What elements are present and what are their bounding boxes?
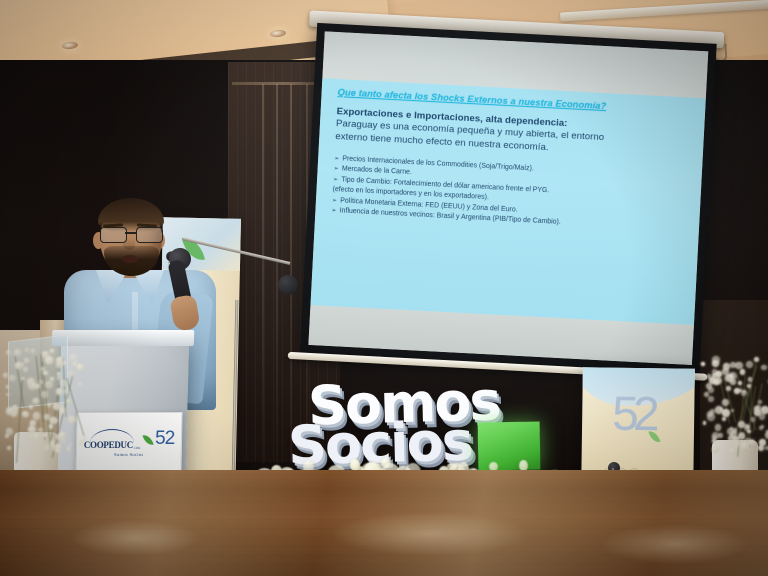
mountain-arc-icon bbox=[90, 429, 134, 443]
flower-blossom bbox=[31, 349, 35, 353]
flower-blossom bbox=[45, 381, 53, 389]
flower-blossom bbox=[712, 439, 716, 443]
flower-blossom bbox=[738, 381, 742, 385]
flower-blossom bbox=[722, 409, 730, 417]
flower-blossom bbox=[703, 421, 706, 424]
bullet-arrow-icon: ➢ bbox=[332, 196, 338, 203]
flower-blossom bbox=[59, 380, 66, 387]
podium-ltda-text: Ltda. bbox=[134, 446, 141, 450]
flower-blossom bbox=[708, 387, 714, 393]
bullet-arrow-icon: ➢ bbox=[333, 176, 339, 183]
flower-blossom bbox=[758, 400, 762, 404]
flower-blossom bbox=[6, 428, 12, 434]
leaf-icon bbox=[648, 429, 660, 444]
flower-blossom bbox=[748, 377, 752, 381]
flower-blossom bbox=[6, 385, 9, 388]
flower-blossom bbox=[56, 362, 62, 368]
floor-light-reflection bbox=[600, 524, 750, 564]
flower-blossom bbox=[747, 430, 750, 433]
boom-pivot-joint bbox=[278, 275, 298, 295]
flower-blossom bbox=[730, 379, 736, 385]
flower-blossom bbox=[715, 424, 722, 431]
flower-blossom bbox=[50, 349, 54, 353]
bullet-arrow-icon: ➢ bbox=[334, 155, 340, 162]
flower-blossom bbox=[708, 396, 714, 402]
flower-bouquet-right bbox=[700, 356, 768, 456]
curtain-fold bbox=[262, 84, 264, 464]
flower-blossom bbox=[741, 442, 749, 450]
flower-blossom bbox=[26, 448, 31, 453]
flower-blossom bbox=[723, 363, 729, 369]
flower-blossom bbox=[42, 351, 49, 358]
slide-bullet-text: Mercados de la Carne. bbox=[342, 165, 412, 176]
flower-blossom bbox=[761, 406, 768, 414]
flower-blossom bbox=[43, 433, 47, 437]
slide-bullet-list: ➢Precios Internacionales de los Commodit… bbox=[331, 154, 692, 236]
lens-right bbox=[136, 227, 163, 243]
flower-blossom bbox=[41, 391, 48, 398]
flower-blossom bbox=[39, 380, 43, 384]
flower-blossom bbox=[24, 412, 29, 417]
flower-blossom bbox=[56, 449, 60, 453]
flower-blossom bbox=[707, 413, 714, 420]
flower-blossom bbox=[749, 439, 755, 445]
flower-blossom bbox=[759, 413, 766, 420]
podium-logo-plate: COOPEDUC Ltda. 52 Somos Socios bbox=[75, 412, 182, 474]
flower-blossom bbox=[47, 403, 51, 407]
flower-blossom bbox=[758, 445, 764, 451]
glasses-bridge bbox=[125, 232, 136, 234]
flower-blossom bbox=[21, 377, 25, 381]
flower-blossom bbox=[729, 372, 737, 380]
curtain-fold bbox=[276, 84, 278, 464]
flower-blossom bbox=[77, 440, 83, 446]
podium-top-surface bbox=[52, 330, 195, 346]
flower-blossom bbox=[722, 417, 726, 421]
flower-blossom bbox=[43, 371, 48, 376]
flower-blossom bbox=[23, 367, 28, 372]
flower-blossom bbox=[28, 426, 35, 433]
flower-blossom bbox=[751, 417, 756, 422]
flower-blossom bbox=[50, 417, 56, 423]
projection-screen: Que tanto afecta los Shocks Externos a n… bbox=[281, 8, 730, 402]
flower-blossom bbox=[67, 447, 70, 450]
flower-blossom bbox=[6, 393, 9, 396]
flower-blossom bbox=[33, 412, 40, 419]
flower-blossom bbox=[754, 406, 759, 411]
floor-light-reflection bbox=[70, 520, 200, 556]
screen-frame: Que tanto afecta los Shocks Externos a n… bbox=[300, 23, 717, 373]
flower-bouquet-left bbox=[2, 348, 82, 458]
flower-blossom bbox=[760, 441, 763, 444]
flower-blossom bbox=[66, 399, 71, 404]
photo-scene: Que tanto afecta los Shocks Externos a n… bbox=[0, 0, 768, 576]
flower-blossom bbox=[77, 364, 83, 370]
leaf-icon bbox=[143, 433, 154, 447]
flower-blossom bbox=[738, 421, 745, 428]
flower-blossom bbox=[24, 358, 29, 363]
flower-blossom bbox=[727, 428, 734, 435]
flower-blossom bbox=[731, 409, 734, 412]
flower-blossom bbox=[759, 426, 763, 430]
flower-blossom bbox=[68, 416, 76, 424]
flower-blossom bbox=[15, 362, 22, 369]
flower-blossom bbox=[70, 354, 77, 361]
podium-tagline-text: Somos Socios bbox=[114, 452, 144, 457]
flower-blossom bbox=[716, 371, 721, 376]
flower-blossom bbox=[63, 361, 67, 365]
podium-logo: COOPEDUC Ltda. 52 bbox=[84, 429, 175, 450]
flower-blossom bbox=[713, 379, 719, 385]
flower-blossom bbox=[50, 442, 56, 448]
flower-blossom bbox=[68, 371, 74, 377]
flower-blossom bbox=[49, 424, 53, 428]
podium-anniversary-number: 52 bbox=[155, 431, 174, 447]
flower-blossom bbox=[3, 373, 6, 376]
flower-blossom bbox=[9, 375, 16, 382]
flower-blossom bbox=[30, 434, 34, 438]
flower-blossom bbox=[7, 446, 11, 450]
flower-blossom bbox=[718, 433, 723, 438]
flower-blossom bbox=[712, 446, 719, 453]
flower-blossom bbox=[78, 382, 83, 387]
flower-blossom bbox=[38, 428, 43, 433]
flower-blossom bbox=[14, 349, 21, 356]
screen-surface: Que tanto afecta los Shocks Externos a n… bbox=[308, 31, 708, 365]
flower-blossom bbox=[47, 357, 53, 363]
flower-blossom bbox=[761, 365, 767, 371]
flower-blossom bbox=[722, 399, 729, 406]
flower-blossom bbox=[712, 360, 719, 367]
flower-blossom bbox=[6, 350, 11, 355]
flower-blossom bbox=[34, 398, 39, 403]
flower-blossom bbox=[726, 386, 731, 391]
flower-blossom bbox=[729, 448, 735, 454]
flower-blossom bbox=[754, 357, 759, 362]
floor-light-reflection bbox=[330, 512, 530, 556]
flower-blossom bbox=[59, 432, 65, 438]
flower-blossom bbox=[36, 384, 40, 388]
flower-blossom bbox=[746, 361, 753, 368]
bullet-arrow-icon: ➢ bbox=[331, 207, 337, 214]
anniversary-number: 52 bbox=[612, 396, 654, 435]
flower-blossom bbox=[69, 443, 72, 446]
flower-blossom bbox=[25, 348, 29, 352]
flower-blossom bbox=[8, 408, 15, 415]
flower-blossom bbox=[62, 439, 65, 442]
flower-blossom bbox=[44, 414, 50, 420]
flower-blossom bbox=[56, 444, 60, 448]
presentation-slide: Que tanto afecta los Shocks Externos a n… bbox=[310, 78, 705, 325]
bullet-arrow-icon: ➢ bbox=[333, 165, 339, 172]
flower-blossom bbox=[56, 388, 63, 395]
flower-blossom bbox=[29, 405, 33, 409]
mouth bbox=[122, 255, 138, 263]
flower-blossom bbox=[60, 409, 65, 414]
flower-blossom bbox=[740, 369, 745, 374]
flower-blossom bbox=[701, 362, 705, 366]
flower-blossom bbox=[735, 362, 742, 369]
